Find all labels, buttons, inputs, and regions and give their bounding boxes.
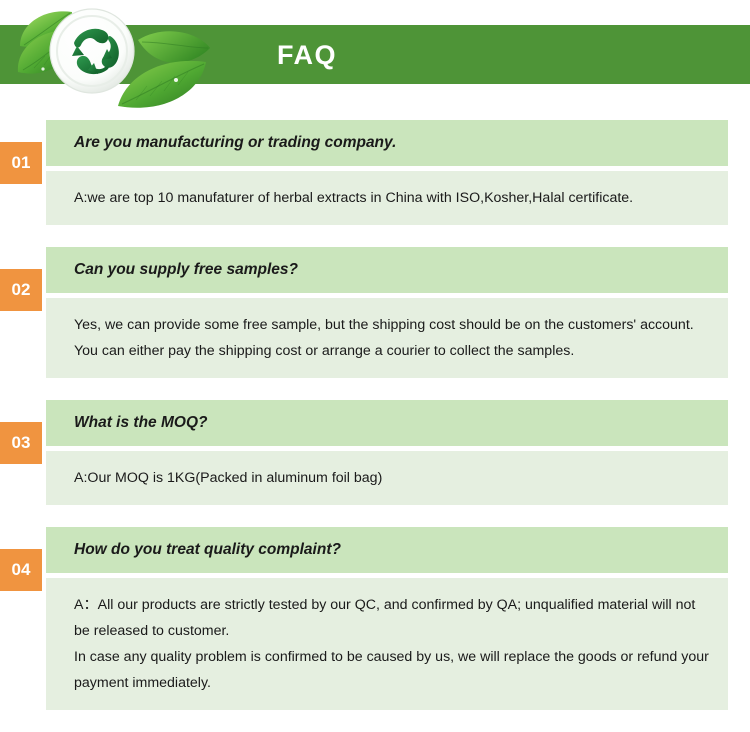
- faq-answer: A:we are top 10 manufaturer of herbal ex…: [46, 171, 728, 225]
- faq-list: 01 Are you manufacturing or trading comp…: [0, 120, 750, 732]
- faq-answer-line: Yes, we can provide some free sample, bu…: [74, 312, 710, 364]
- faq-body: How do you treat quality complaint? A：Al…: [46, 527, 728, 710]
- faq-answer-line: A:we are top 10 manufaturer of herbal ex…: [74, 185, 710, 211]
- faq-number-badge: 04: [0, 549, 42, 591]
- faq-question: How do you treat quality complaint?: [46, 527, 728, 573]
- faq-answer-line: A：All our products are strictly tested b…: [74, 592, 710, 644]
- faq-answer-line: In case any quality problem is confirmed…: [74, 644, 710, 696]
- faq-body: Are you manufacturing or trading company…: [46, 120, 728, 225]
- faq-number-badge: 01: [0, 142, 42, 184]
- faq-answer: A：All our products are strictly tested b…: [46, 578, 728, 710]
- faq-number-badge: 02: [0, 269, 42, 311]
- green-leaves-recycle-logo: [14, 0, 224, 110]
- faq-body: Can you supply free samples? Yes, we can…: [46, 247, 728, 378]
- faq-body: What is the MOQ? A:Our MOQ is 1KG(Packed…: [46, 400, 728, 505]
- logo-disc: [50, 9, 134, 93]
- faq-item: 02 Can you supply free samples? Yes, we …: [0, 247, 750, 378]
- page-title: FAQ: [277, 39, 337, 71]
- faq-question: Can you supply free samples?: [46, 247, 728, 293]
- faq-item: 04 How do you treat quality complaint? A…: [0, 527, 750, 710]
- faq-item: 03 What is the MOQ? A:Our MOQ is 1KG(Pac…: [0, 400, 750, 505]
- faq-answer-line: A:Our MOQ is 1KG(Packed in aluminum foil…: [74, 465, 710, 491]
- faq-question: What is the MOQ?: [46, 400, 728, 446]
- faq-answer: Yes, we can provide some free sample, bu…: [46, 298, 728, 378]
- faq-answer: A:Our MOQ is 1KG(Packed in aluminum foil…: [46, 451, 728, 505]
- faq-number-badge: 03: [0, 422, 42, 464]
- leaf-right-upper: [138, 31, 210, 63]
- faq-question: Are you manufacturing or trading company…: [46, 120, 728, 166]
- leaf-right-lower: [118, 61, 206, 108]
- faq-item: 01 Are you manufacturing or trading comp…: [0, 120, 750, 225]
- page-header: FAQ: [0, 0, 750, 120]
